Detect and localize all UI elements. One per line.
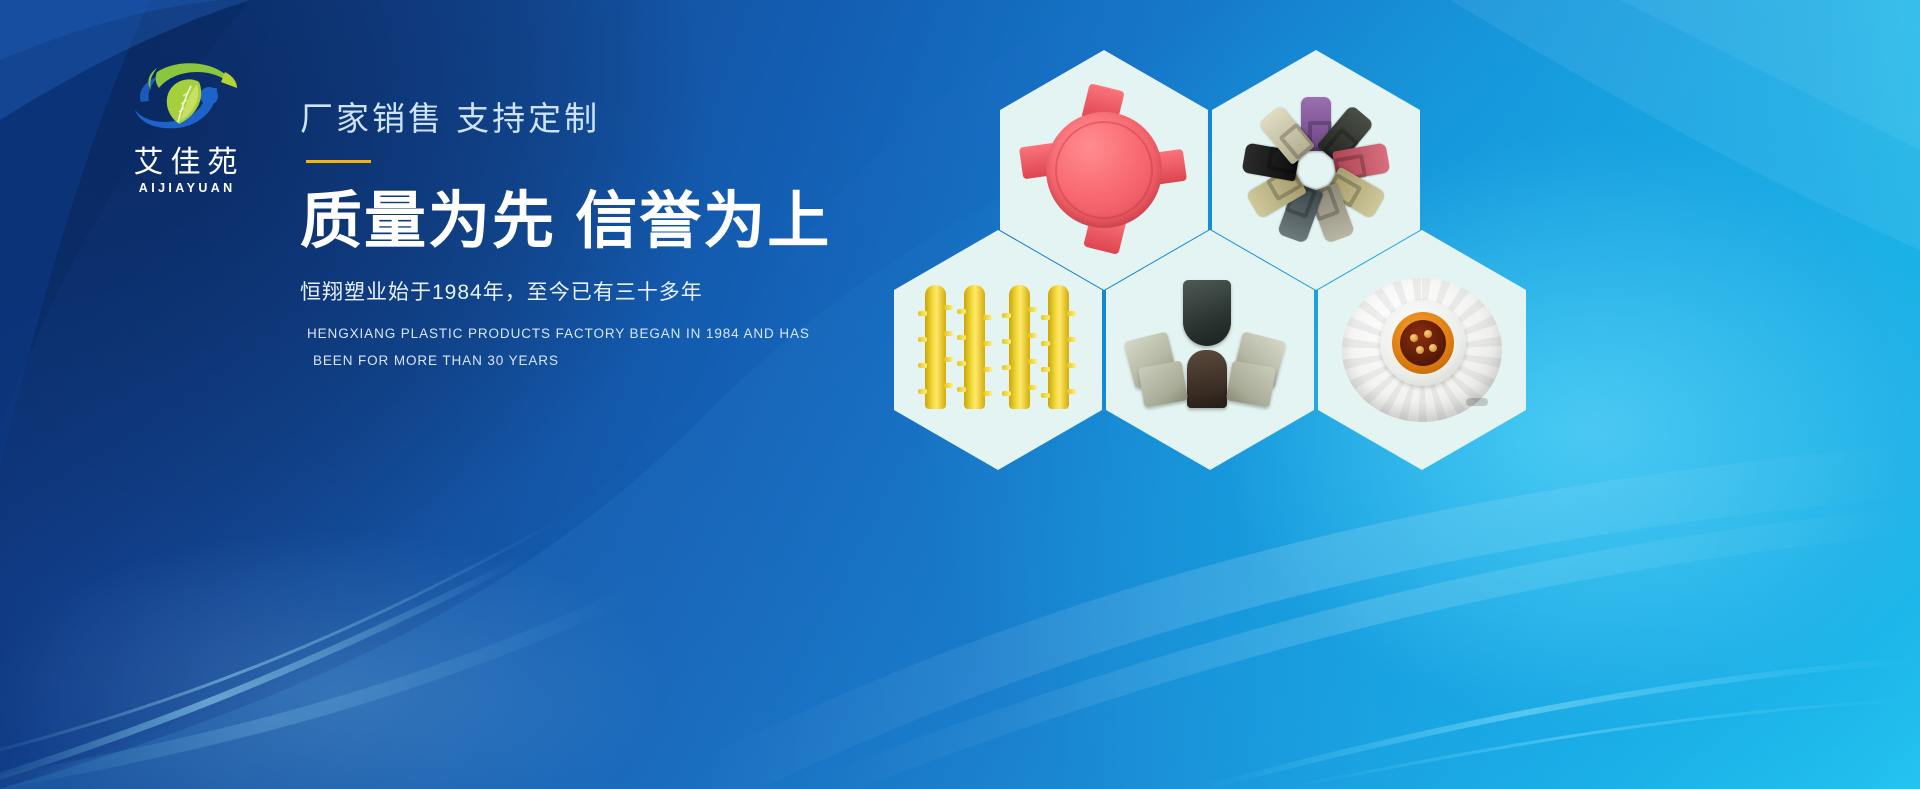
gold-rule-divider <box>306 160 371 163</box>
leaf-swoosh-logo-icon <box>121 52 251 144</box>
pink-junction-box-cover-image <box>1029 95 1179 245</box>
logo-company-name-cn: 艾佳苑 <box>78 146 293 180</box>
yellow-wall-anchors-image <box>919 285 1077 415</box>
logo-block[interactable]: 艾佳苑 AIJIAYUAN <box>78 52 293 195</box>
headline-text: 质量为先 信誉为上 <box>300 189 1000 254</box>
assorted-plastic-buckles-image <box>1232 86 1400 254</box>
eyebrow-text: 厂家销售 支持定制 <box>300 92 1000 140</box>
logo-company-pinyin: AIJIAYUAN <box>78 181 293 195</box>
grey-black-cable-clips-image <box>1125 280 1295 420</box>
product-hexagon-cluster <box>1000 50 1620 390</box>
white-ceiling-lamp-holder-image <box>1342 270 1502 430</box>
hero-banner: 艾佳苑 AIJIAYUAN 厂家销售 支持定制 质量为先 信誉为上 恒翔塑业始于… <box>0 0 1920 789</box>
